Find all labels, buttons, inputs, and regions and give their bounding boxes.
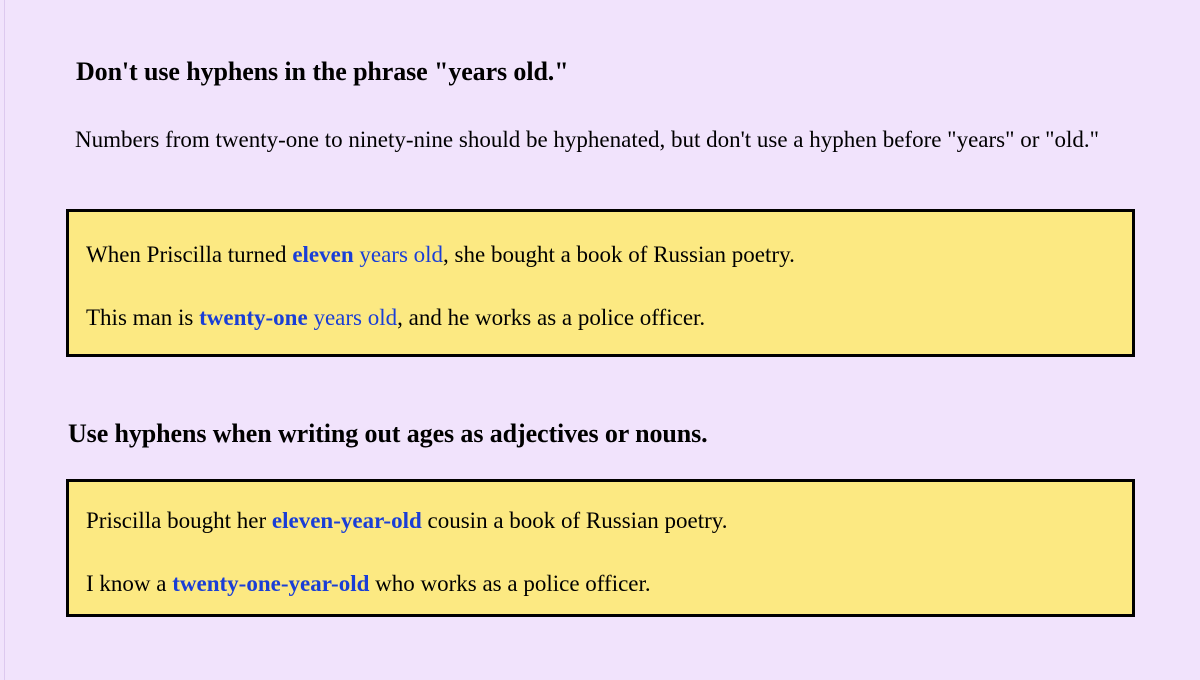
section-intro-paragraph: Numbers from twenty-one to ninety-nine s…: [75, 124, 1123, 155]
sentence-text-before: I know a: [86, 571, 172, 596]
sentence-text-before: When Priscilla turned: [86, 242, 292, 267]
highlight-years-old: years old: [359, 242, 443, 267]
highlight-hyphenated-age: eleven-year-old: [272, 508, 422, 533]
sentence-text-after: who works as a police officer.: [369, 571, 650, 596]
sentence-text-after: , and he works as a police officer.: [397, 305, 705, 330]
example-sentence: This man is twenty-one years old, and he…: [79, 303, 1122, 333]
example-sentence: I know a twenty-one-year-old who works a…: [79, 569, 1122, 599]
example-sentence: When Priscilla turned eleven years old, …: [79, 240, 1122, 270]
sentence-text-after: cousin a book of Russian poetry.: [422, 508, 728, 533]
highlight-years-old: years old: [313, 305, 397, 330]
section-heading-use-hyphens-ages: Use hyphens when writing out ages as adj…: [68, 419, 708, 449]
example-box-hyphenated-ages: Priscilla bought her eleven-year-old cou…: [66, 479, 1135, 617]
section-heading-no-hyphen-years-old: Don't use hyphens in the phrase "years o…: [76, 57, 569, 87]
highlight-hyphenated-age: twenty-one-year-old: [172, 571, 369, 596]
highlight-number-bold: eleven: [292, 242, 353, 267]
highlight-number-bold: twenty-one: [199, 305, 308, 330]
example-sentence: Priscilla bought her eleven-year-old cou…: [79, 506, 1122, 536]
sentence-text-after: , she bought a book of Russian poetry.: [443, 242, 795, 267]
example-box-no-hyphen: When Priscilla turned eleven years old, …: [66, 209, 1135, 357]
sentence-text-before: Priscilla bought her: [86, 508, 272, 533]
sentence-text-before: This man is: [86, 305, 199, 330]
grammar-tip-page: Don't use hyphens in the phrase "years o…: [0, 0, 1200, 680]
